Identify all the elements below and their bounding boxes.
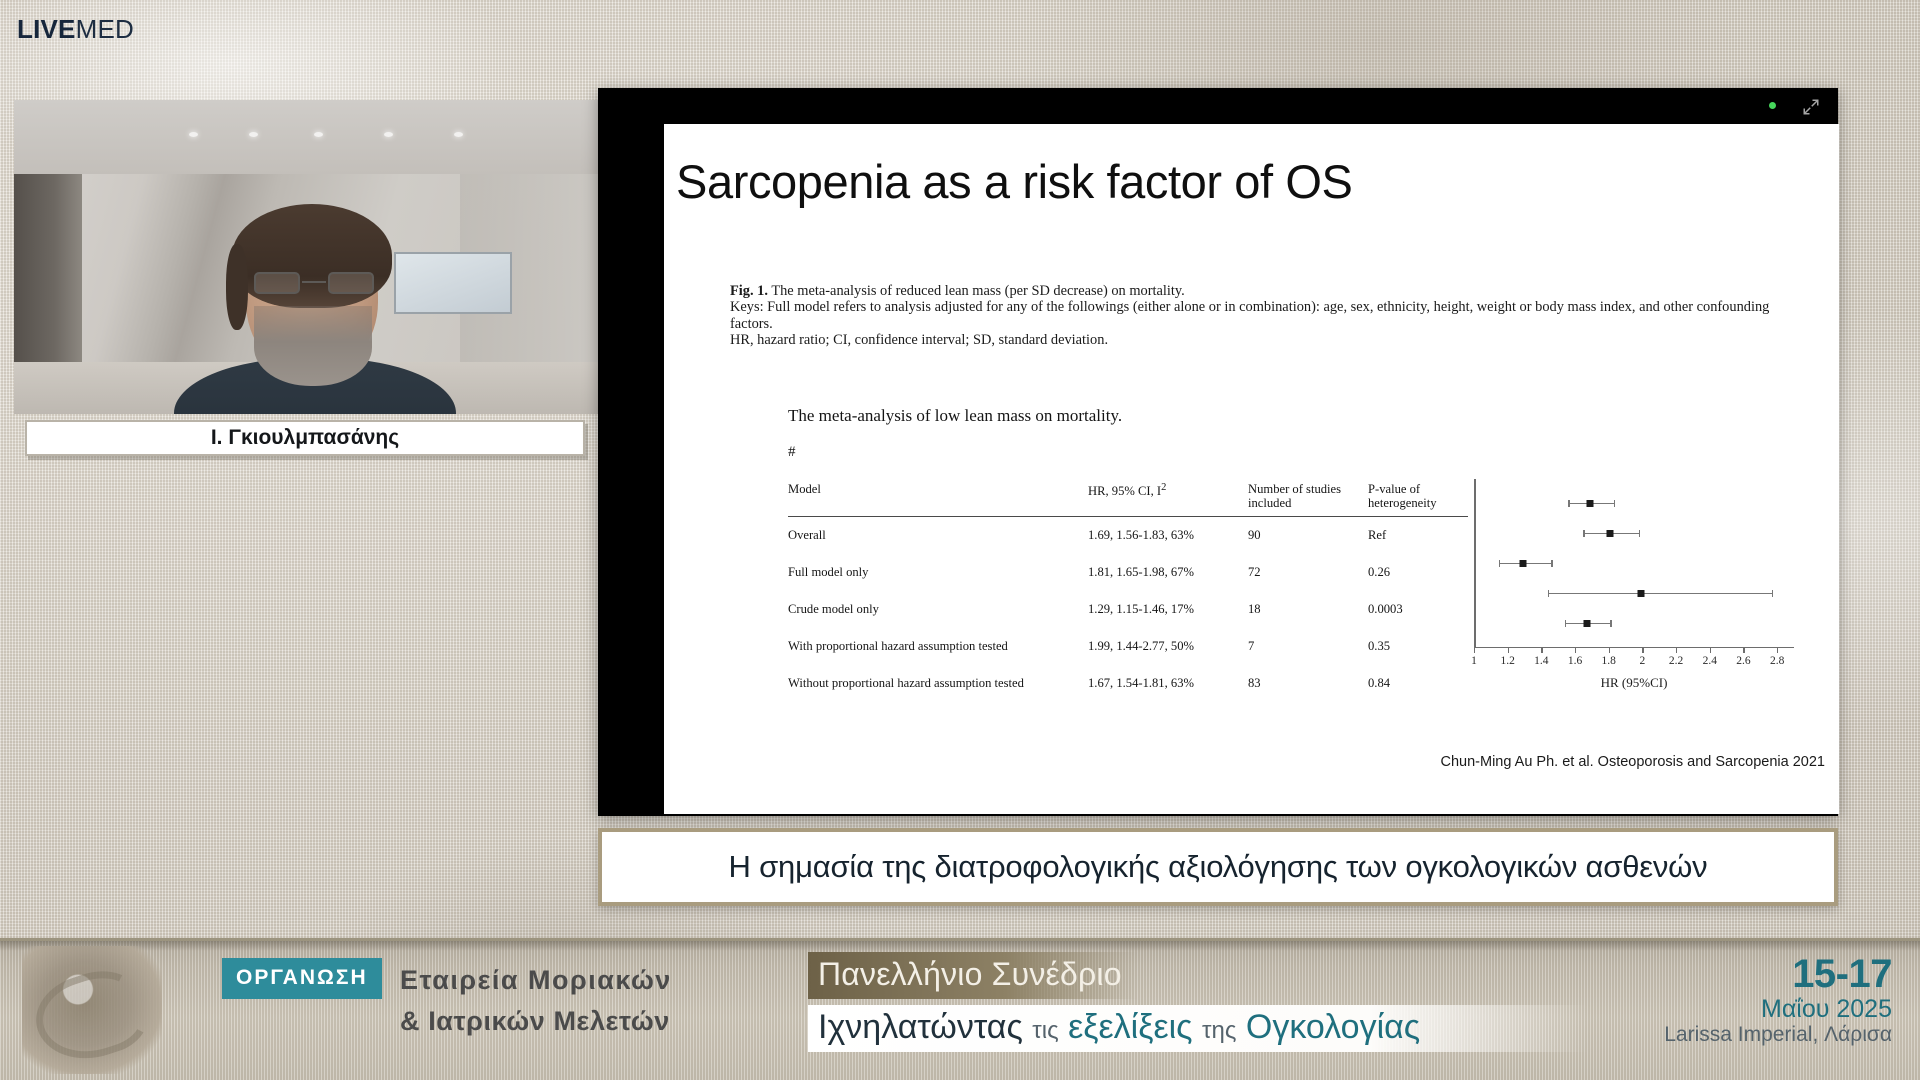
forest-tick-label: 1 <box>1471 655 1477 667</box>
cell-hr: 1.69, 1.56-1.83, 63% <box>1088 517 1248 555</box>
fossil-decoration-icon <box>22 946 162 1074</box>
forest-tick-label: 1.4 <box>1534 655 1548 667</box>
forest-tick-label: 2.8 <box>1770 655 1784 667</box>
forest-tick-label: 1.8 <box>1602 655 1616 667</box>
speaker-glasses <box>252 272 376 294</box>
cell-studies: 72 <box>1248 554 1368 591</box>
caption-line-4: HR, hazard ratio; CI, confidence interva… <box>730 333 1790 348</box>
forest-tick <box>1777 647 1778 653</box>
conference-title-block: Πανελλήνιο Συνέδριο Ιχνηλατώντας τις εξε… <box>808 952 1588 1052</box>
forest-tick-label: 1.6 <box>1568 655 1582 667</box>
conf-word-3: εξελίξεις <box>1068 1008 1192 1046</box>
forest-tick-label: 2.4 <box>1703 655 1717 667</box>
background-monitor <box>394 252 512 314</box>
caption-line-2: Keys: Full model refers to analysis adju… <box>730 300 1790 315</box>
cell-hr: 1.29, 1.15-1.46, 17% <box>1088 591 1248 628</box>
conf-word-2: τις <box>1032 1017 1058 1044</box>
slide-citation: Chun-Ming Au Ph. et al. Osteoporosis and… <box>1441 754 1826 770</box>
caption-line-1: The meta-analysis of reduced lean mass (… <box>768 283 1185 299</box>
cell-pvalue: 0.26 <box>1368 554 1468 591</box>
forest-tick <box>1508 647 1509 653</box>
meta-analysis-table: Model HR, 95% CI, I2 Number of studiesin… <box>788 482 1468 702</box>
forest-tick <box>1642 647 1643 653</box>
table-row: Without proportional hazard assumption t… <box>788 665 1468 702</box>
forest-ci-cap-low <box>1568 500 1569 507</box>
forest-tick-label: 2.2 <box>1669 655 1683 667</box>
cell-pvalue: 0.84 <box>1368 665 1468 702</box>
forest-point-estimate <box>1583 620 1590 627</box>
cell-hr: 1.99, 1.44-2.77, 50% <box>1088 628 1248 665</box>
col-header-pvalue: P-value ofheterogeneity <box>1368 482 1468 517</box>
ceiling-light-1 <box>189 132 198 137</box>
glasses-left-lens <box>254 272 300 294</box>
forest-ci-cap-low <box>1499 560 1500 567</box>
forest-tick <box>1676 647 1677 653</box>
forest-point-estimate <box>1587 500 1594 507</box>
table-body: Overall1.69, 1.56-1.83, 63%90RefFull mod… <box>788 517 1468 703</box>
forest-tick <box>1541 647 1542 653</box>
organizer-name: Εταιρεία Μοριακών & Ιατρικών Μελετών <box>400 960 672 1042</box>
forest-tick <box>1743 647 1744 653</box>
forest-tick-label: 2.6 <box>1736 655 1750 667</box>
talk-title: Η σημασία της διατροφολογικής αξιολόγηση… <box>729 849 1708 885</box>
ceiling-light-2 <box>249 132 258 137</box>
cell-studies: 90 <box>1248 517 1368 555</box>
forest-tick <box>1474 647 1475 653</box>
presentation-slide: Sarcopenia as a risk factor of OS Fig. 1… <box>664 124 1839 814</box>
forest-ci-cap-high <box>1610 620 1611 627</box>
forest-point-estimate <box>1637 590 1644 597</box>
conference-month: Μαΐου 2025 <box>1664 995 1892 1024</box>
col-header-hr: HR, 95% CI, I2 <box>1088 482 1248 517</box>
cell-studies: 83 <box>1248 665 1368 702</box>
organizer-name-line2: & Ιατρικών Μελετών <box>400 1001 672 1042</box>
table-row: Crude model only1.29, 1.15-1.46, 17%180.… <box>788 591 1468 628</box>
organizer-badge: ΟΡΓΑΝΩΣΗ <box>222 958 382 999</box>
forest-plot: HR (95%CI) 11.21.41.61.822.22.42.62.8 <box>1474 479 1814 694</box>
cell-pvalue: Ref <box>1368 517 1468 555</box>
cell-hr: 1.67, 1.54-1.81, 63% <box>1088 665 1248 702</box>
conf-word-1: Ιχνηλατώντας <box>818 1008 1023 1046</box>
forest-ci-cap-low <box>1565 620 1566 627</box>
cell-studies: 7 <box>1248 628 1368 665</box>
forest-ci-cap-high <box>1772 590 1773 597</box>
conf-word-4: της <box>1202 1017 1236 1044</box>
logo-light-part: MED <box>76 14 134 44</box>
forest-tick <box>1710 647 1711 653</box>
cell-studies: 18 <box>1248 591 1368 628</box>
forest-tick <box>1575 647 1576 653</box>
ceiling-light-3 <box>314 132 323 137</box>
col-header-studies: Number of studiesincluded <box>1248 482 1368 517</box>
ceiling-light-5 <box>454 132 463 137</box>
conference-title-line1: Πανελλήνιο Συνέδριο <box>808 952 1138 999</box>
glasses-right-lens <box>328 272 374 294</box>
speaker-name-plate: Ι. Γκιουλμπασάνης <box>25 420 585 456</box>
table-heading: The meta-analysis of low lean mass on mo… <box>788 406 1122 426</box>
forest-ci-cap-low <box>1548 590 1549 597</box>
forest-ci-cap-high <box>1551 560 1552 567</box>
forest-x-axis-label: HR (95%CI) <box>1601 675 1668 691</box>
cell-hr: 1.81, 1.65-1.98, 67% <box>1088 554 1248 591</box>
figure-caption: Fig. 1. The meta-analysis of reduced lea… <box>730 284 1790 349</box>
forest-point-estimate <box>1519 560 1526 567</box>
forest-tick-label: 2 <box>1640 655 1646 667</box>
speaker-beard <box>254 306 372 386</box>
forest-tick <box>1609 647 1610 653</box>
conference-title-line2: Ιχνηλατώντας τις εξελίξεις της Ογκολογία… <box>808 1005 1588 1052</box>
forest-ci-cap-high <box>1614 500 1615 507</box>
ceiling-light-4 <box>384 132 393 137</box>
forest-tick-label: 1.2 <box>1500 655 1514 667</box>
cell-model: Overall <box>788 517 1088 555</box>
speaker-video-tile[interactable] <box>14 100 610 414</box>
cell-model: Without proportional hazard assumption t… <box>788 665 1088 702</box>
speaker-name: Ι. Γκιουλμπασάνης <box>211 426 399 450</box>
recording-indicator-icon <box>1769 102 1776 109</box>
logo-bold-part: LIVE <box>17 14 76 44</box>
conference-venue: Larissa Imperial, Λάρισα <box>1664 1023 1892 1047</box>
cell-model: Crude model only <box>788 591 1088 628</box>
screenshare-toolbar <box>598 88 1838 124</box>
cell-model: With proportional hazard assumption test… <box>788 628 1088 665</box>
organizer-name-line1: Εταιρεία Μοριακών <box>400 960 672 1001</box>
forest-point-estimate <box>1607 530 1614 537</box>
cell-model: Full model only <box>788 554 1088 591</box>
screenshare-panel[interactable]: Sarcopenia as a risk factor of OS Fig. 1… <box>598 88 1838 816</box>
livemed-logo: LIVEMED <box>17 14 134 45</box>
conf-word-5: Ογκολογίας <box>1246 1008 1420 1046</box>
table-row: With proportional hazard assumption test… <box>788 628 1468 665</box>
glasses-bridge <box>302 281 326 283</box>
slide-title: Sarcopenia as a risk factor of OS <box>676 154 1352 209</box>
table-header-row: Model HR, 95% CI, I2 Number of studiesin… <box>788 482 1468 517</box>
cell-pvalue: 0.0003 <box>1368 591 1468 628</box>
ceiling-area <box>14 100 610 174</box>
forest-ci-cap-high <box>1639 530 1640 537</box>
expand-icon[interactable] <box>1802 98 1820 116</box>
caption-line-3: factors. <box>730 317 1790 332</box>
figure-label: Fig. 1. <box>730 283 768 299</box>
table-row: Full model only1.81, 1.65-1.98, 67%720.2… <box>788 554 1468 591</box>
forest-x-axis <box>1474 647 1794 648</box>
talk-title-banner: Η σημασία της διατροφολογικής αξιολόγηση… <box>598 828 1838 906</box>
col-header-model: Model <box>788 482 1088 517</box>
hash-marker: # <box>788 444 796 461</box>
forest-vertical-axis <box>1474 479 1476 647</box>
conference-dates: 15-17 <box>1664 952 1892 997</box>
table-row: Overall1.69, 1.56-1.83, 63%90Ref <box>788 517 1468 555</box>
forest-ci-cap-low <box>1583 530 1584 537</box>
cell-pvalue: 0.35 <box>1368 628 1468 665</box>
conference-date-block: 15-17 Μαΐου 2025 Larissa Imperial, Λάρισ… <box>1664 952 1892 1047</box>
forest-ci-line <box>1548 593 1772 594</box>
